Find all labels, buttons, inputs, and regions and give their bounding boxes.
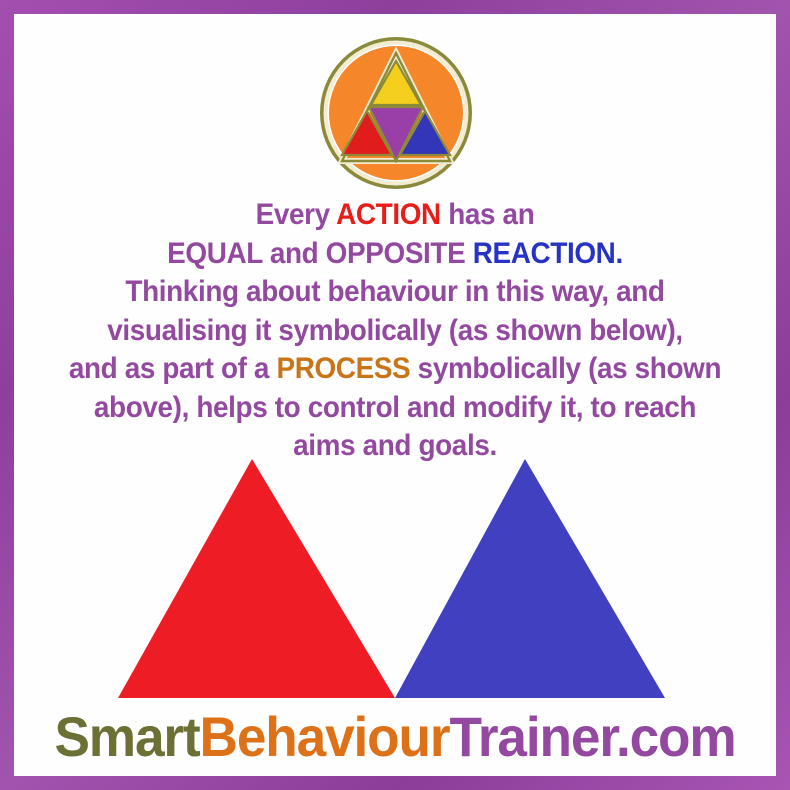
red-action-triangle bbox=[118, 459, 395, 698]
headline-accent-reaction: REACTION. bbox=[473, 237, 623, 270]
headline-line-1-post: has an bbox=[441, 198, 535, 231]
headline-line-1-pre: Every bbox=[256, 198, 337, 231]
headline-line-7: aims and goals. bbox=[41, 427, 750, 466]
headline-line-2: EQUAL and OPPOSITE REACTION. bbox=[41, 235, 750, 274]
triangle-in-circle-logo bbox=[320, 37, 472, 189]
headline-block: Every ACTION has an EQUAL and OPPOSITE R… bbox=[41, 196, 750, 466]
poster-canvas: Every ACTION has an EQUAL and OPPOSITE R… bbox=[14, 14, 776, 776]
headline-line-4-pre: visualising it symbolically (as shown be… bbox=[107, 314, 683, 347]
headline-line-3: Thinking about behaviour in this way, an… bbox=[41, 273, 750, 312]
poster-frame: Every ACTION has an EQUAL and OPPOSITE R… bbox=[0, 0, 790, 790]
headline-line-5-post: symbolically (as shown bbox=[410, 352, 721, 385]
headline-line-6-pre: above), helps to control and modify it, … bbox=[94, 391, 696, 424]
site-wordmark[interactable]: SmartBehaviourTrainer.com bbox=[33, 706, 757, 768]
blue-reaction-triangle bbox=[395, 459, 665, 698]
headline-accent-process: PROCESS bbox=[276, 352, 410, 385]
headline-line-3-pre: Thinking about behaviour in this way, an… bbox=[125, 275, 664, 308]
headline-accent-action: ACTION bbox=[336, 198, 441, 231]
headline-line-4: visualising it symbolically (as shown be… bbox=[41, 312, 750, 351]
wordmark-part-trainer: Trainer.com bbox=[449, 705, 735, 768]
headline-line-5: and as part of a PROCESS symbolically (a… bbox=[41, 350, 750, 389]
wordmark-part-smart: Smart bbox=[54, 705, 199, 768]
wordmark-part-behaviour: Behaviour bbox=[200, 705, 450, 768]
headline-line-2-pre: EQUAL and OPPOSITE bbox=[167, 237, 473, 270]
headline-line-5-pre: and as part of a bbox=[69, 352, 277, 385]
headline-line-6: above), helps to control and modify it, … bbox=[41, 389, 750, 428]
headline-line-7-pre: aims and goals. bbox=[293, 429, 497, 462]
headline-line-1: Every ACTION has an bbox=[41, 196, 750, 235]
